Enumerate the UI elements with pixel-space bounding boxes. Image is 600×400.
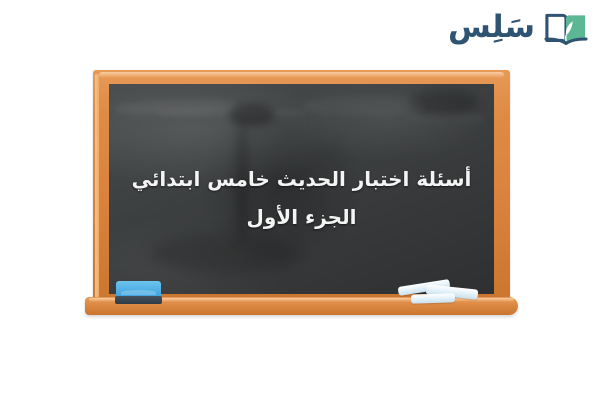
eraser-sponge bbox=[116, 281, 161, 297]
chalk-smudge bbox=[115, 98, 235, 116]
poster-canvas: سَلِس أسئلة اختبار الحديث خامس ابتدائي ا… bbox=[0, 0, 600, 400]
chalk-smudge bbox=[157, 108, 307, 117]
blackboard-title-line-1: أسئلة اختبار الحديث خامس ابتدائي bbox=[109, 166, 494, 193]
open-book-icon bbox=[544, 9, 588, 49]
blackboard-slate: أسئلة اختبار الحديث خامس ابتدائي الجزء ا… bbox=[109, 84, 494, 294]
chalk-smudge bbox=[405, 112, 485, 124]
eraser-base bbox=[115, 296, 162, 304]
blackboard-title-block: أسئلة اختبار الحديث خامس ابتدائي الجزء ا… bbox=[109, 166, 494, 231]
blackboard-frame: أسئلة اختبار الحديث خامس ابتدائي الجزء ا… bbox=[93, 70, 510, 308]
blackboard: أسئلة اختبار الحديث خامس ابتدائي الجزء ا… bbox=[93, 70, 510, 322]
blackboard-title-line-2: الجزء الأول bbox=[109, 204, 494, 231]
chalk-smudge bbox=[229, 104, 275, 126]
brand-name: سَلِس bbox=[448, 12, 535, 46]
chalk-smudge bbox=[409, 90, 479, 116]
chalk-stick bbox=[411, 293, 455, 304]
blackboard-eraser bbox=[115, 281, 162, 305]
chalk-smudge bbox=[149, 234, 299, 274]
brand-logo[interactable]: سَلِس bbox=[448, 6, 588, 52]
chalk-smudge bbox=[237, 122, 247, 242]
chalk-smudge bbox=[305, 96, 425, 116]
